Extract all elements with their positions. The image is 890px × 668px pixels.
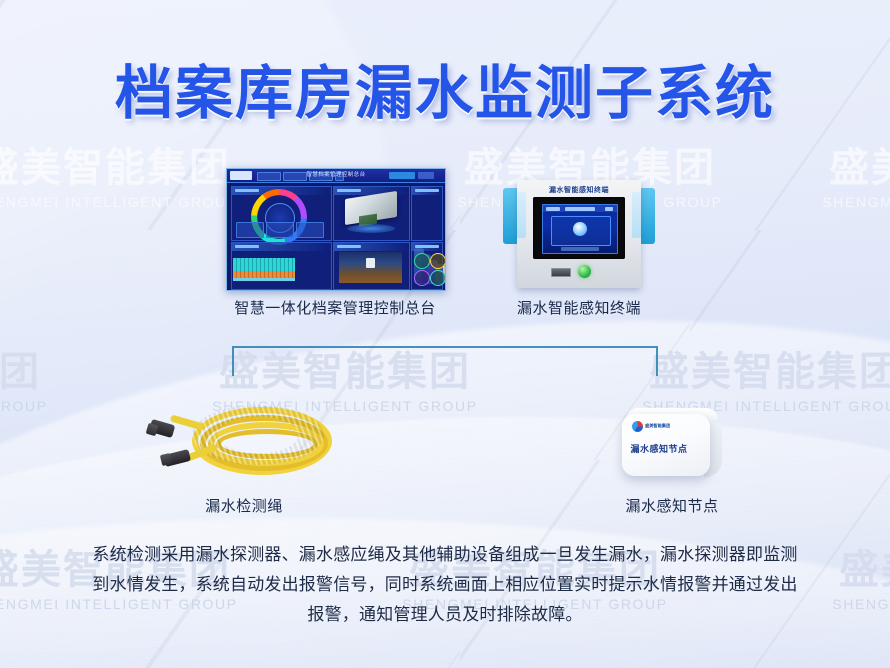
terminal-ui-logo [546, 207, 560, 211]
terminal-screen-ui [542, 204, 618, 254]
chart-series-2 [233, 278, 295, 281]
dashboard-badge [389, 172, 415, 179]
panel-header [334, 243, 409, 251]
nav-icon-1[interactable] [430, 253, 446, 269]
terminal-device-label: 漏水智能感知终端 [503, 185, 655, 195]
nav-icon-0[interactable] [414, 253, 430, 269]
brand-logo: 盛美智能集团 [632, 421, 670, 432]
product-image-cable [150, 405, 340, 490]
watermark-cn: 盛美智能集团 [800, 550, 890, 590]
water-drop-icon [573, 222, 587, 236]
terminal-wing-right [639, 188, 655, 244]
watermark-3: 盛美智能集团 SHENGMEI INTELLIGENT GROUP [790, 148, 890, 210]
model-glow-base [347, 224, 395, 233]
metric-card-1 [266, 222, 294, 238]
product-image-node: 盛美智能集团 漏水感知节点 [620, 408, 724, 490]
dashboard-user[interactable] [418, 172, 434, 179]
terminal-ui-title [565, 207, 595, 211]
terminal-ui-status [605, 207, 613, 211]
cable-lead-1 [170, 414, 205, 430]
panel-device-status [411, 186, 443, 241]
terminal-indicator-button[interactable] [578, 265, 591, 278]
node-front-face: 盛美智能集团 漏水感知节点 [622, 414, 710, 476]
terminal-inner-right [632, 192, 641, 238]
panel-header [232, 243, 331, 251]
terminal-screen[interactable] [533, 197, 625, 259]
watermark-6: 盛美智能集团 SHENGMEI INTELLIGENT GROUP [0, 352, 80, 414]
caption-terminal: 漏水智能感知终端 [489, 297, 669, 318]
video-overlay-icon [366, 258, 375, 268]
poster-page: 盛美智能集团 SHENGMEI INTELLIGENT GROUP 盛美智能集团… [0, 0, 890, 668]
product-image-console: 智慧档案管理控制总台 [226, 168, 446, 291]
watermark-en: SHENGMEI INTELLIGENT GROUP [790, 194, 890, 210]
product-image-terminal: 漏水智能感知终端 [503, 180, 655, 288]
caption-node: 漏水感知节点 [582, 495, 762, 516]
logo-mark-icon [632, 421, 643, 432]
logo-text: 盛美智能集团 [645, 424, 670, 429]
watermark-en: SHENGMEI INTELLIGENT GROUP [800, 596, 890, 612]
watermark-cn: 盛美智能集团 [0, 352, 80, 392]
page-title: 档案库房漏水监测子系统 [0, 46, 890, 130]
terminal-ui-footer [561, 247, 599, 251]
panel-header [412, 187, 442, 195]
watermark-en: SHENGMEI INTELLIGENT GROUP [0, 398, 80, 414]
metric-card-0 [236, 222, 264, 238]
cable-connector-cap-1 [146, 423, 159, 436]
metric-card-2 [296, 222, 324, 238]
watermark-9: 盛美智能集团 SHENGMEI INTELLIGENT GROUP [800, 550, 890, 612]
connector-bracket [232, 346, 658, 376]
chart-series-0 [233, 258, 295, 271]
node-device-label: 漏水感知节点 [622, 442, 696, 455]
terminal-port [551, 268, 571, 277]
caption-cable: 漏水检测绳 [154, 495, 334, 516]
description-text: 系统检测采用漏水探测器、漏水感应绳及其他辅助设备组成一旦发生漏水，漏水探测器即监… [86, 540, 804, 630]
caption-console: 智慧一体化档案管理控制总台 [195, 297, 475, 318]
terminal-inner-left [517, 192, 526, 238]
cable-texture [192, 405, 324, 465]
nav-icon-2[interactable] [414, 270, 430, 286]
chart-series-1 [233, 271, 295, 278]
nav-icon-3[interactable] [430, 270, 446, 286]
watermark-cn: 盛美智能集团 [790, 148, 890, 188]
panel-header [412, 243, 442, 251]
